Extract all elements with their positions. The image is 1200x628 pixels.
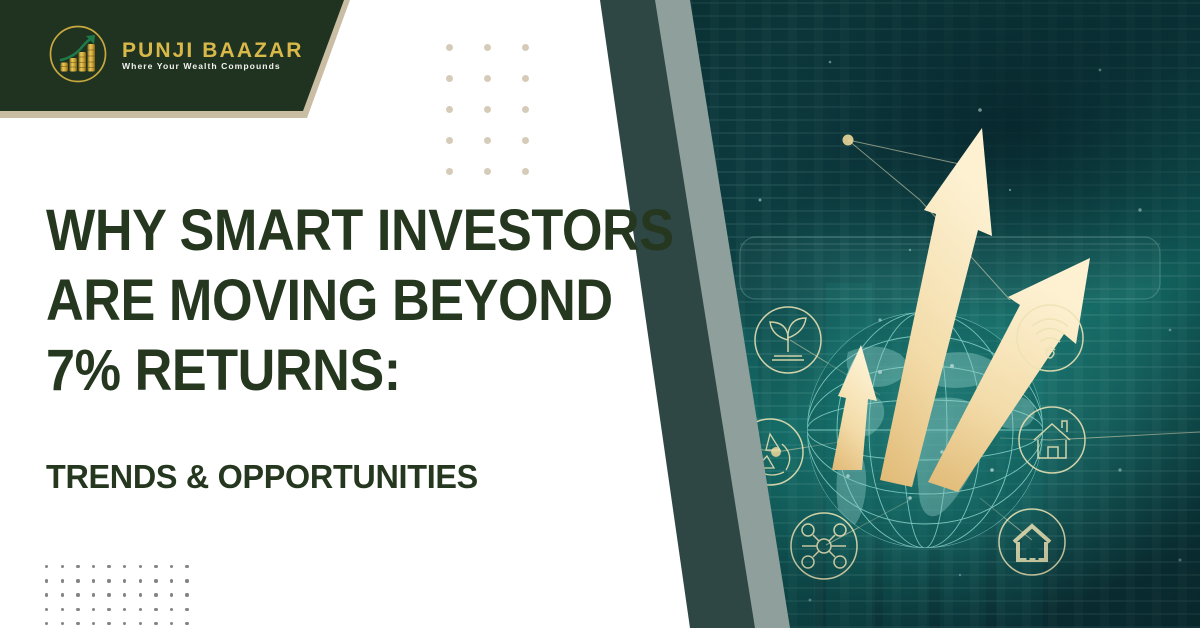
dot bbox=[76, 608, 79, 611]
dot bbox=[154, 608, 157, 611]
dot bbox=[107, 565, 110, 568]
dot bbox=[123, 565, 126, 568]
subheadline: TRENDS & OPPORTUNITIES bbox=[46, 458, 478, 496]
dot bbox=[45, 579, 48, 582]
dot bbox=[522, 168, 529, 175]
dot bbox=[170, 593, 173, 596]
dot bbox=[154, 579, 157, 582]
brand-logo[interactable]: PUNJI BAAZAR Where Your Wealth Compounds bbox=[48, 24, 304, 84]
dot bbox=[76, 579, 79, 582]
dot bbox=[92, 622, 95, 625]
dot bbox=[92, 565, 95, 568]
dot bbox=[123, 608, 126, 611]
dot bbox=[92, 608, 95, 611]
dot bbox=[185, 622, 188, 625]
dot bbox=[92, 593, 95, 596]
headline-block: WHY SMART INVESTORS ARE MOVING BEYOND 7%… bbox=[46, 196, 606, 406]
dot bbox=[139, 579, 142, 582]
dot bbox=[139, 622, 142, 625]
growth-bars-arrow-icon bbox=[48, 24, 108, 84]
dot bbox=[123, 593, 126, 596]
brand-text-block: PUNJI BAAZAR Where Your Wealth Compounds bbox=[122, 38, 304, 71]
headline-line-1: WHY SMART INVESTORS bbox=[46, 196, 550, 266]
dot bbox=[45, 593, 48, 596]
dot bbox=[154, 622, 157, 625]
dot bbox=[139, 608, 142, 611]
dot bbox=[154, 565, 157, 568]
dot bbox=[61, 608, 64, 611]
dot bbox=[123, 579, 126, 582]
dot bbox=[170, 622, 173, 625]
dot bbox=[185, 565, 188, 568]
dot bbox=[154, 593, 157, 596]
dot bbox=[76, 593, 79, 596]
dot bbox=[139, 565, 142, 568]
dot-grid-top bbox=[446, 44, 560, 199]
dot bbox=[107, 622, 110, 625]
headline-line-2: ARE MOVING BEYOND bbox=[46, 266, 550, 336]
dot bbox=[61, 593, 64, 596]
dot bbox=[139, 593, 142, 596]
dot bbox=[107, 579, 110, 582]
dot bbox=[170, 579, 173, 582]
dot bbox=[61, 579, 64, 582]
dot bbox=[61, 565, 64, 568]
dot bbox=[107, 593, 110, 596]
dot bbox=[522, 44, 529, 51]
dot bbox=[61, 622, 64, 625]
dot bbox=[446, 137, 453, 144]
dot bbox=[522, 137, 529, 144]
dot bbox=[170, 565, 173, 568]
dot bbox=[107, 608, 110, 611]
dot bbox=[446, 75, 453, 82]
promo-banner: PUNJI BAAZAR Where Your Wealth Compounds… bbox=[0, 0, 1200, 628]
artwork-panel bbox=[580, 0, 1200, 628]
dot bbox=[45, 608, 48, 611]
dot bbox=[484, 168, 491, 175]
dot bbox=[484, 137, 491, 144]
brand-header-bar: PUNJI BAAZAR Where Your Wealth Compounds bbox=[0, 0, 350, 118]
dot bbox=[185, 593, 188, 596]
dot bbox=[76, 622, 79, 625]
headline-line-3: 7% RETURNS: bbox=[46, 336, 550, 406]
dot bbox=[170, 608, 173, 611]
dot bbox=[484, 106, 491, 113]
dot bbox=[446, 44, 453, 51]
dot bbox=[45, 622, 48, 625]
brand-tagline: Where Your Wealth Compounds bbox=[122, 62, 304, 71]
dot bbox=[446, 168, 453, 175]
dot bbox=[446, 106, 453, 113]
dot bbox=[76, 565, 79, 568]
dot bbox=[522, 75, 529, 82]
dot bbox=[185, 608, 188, 611]
dot bbox=[185, 579, 188, 582]
dot bbox=[45, 565, 48, 568]
dot bbox=[522, 106, 529, 113]
brand-name: PUNJI BAAZAR bbox=[122, 40, 304, 61]
dot bbox=[484, 75, 491, 82]
dot bbox=[484, 44, 491, 51]
dot-grid-bottom bbox=[45, 565, 201, 628]
dot bbox=[92, 579, 95, 582]
dot bbox=[123, 622, 126, 625]
